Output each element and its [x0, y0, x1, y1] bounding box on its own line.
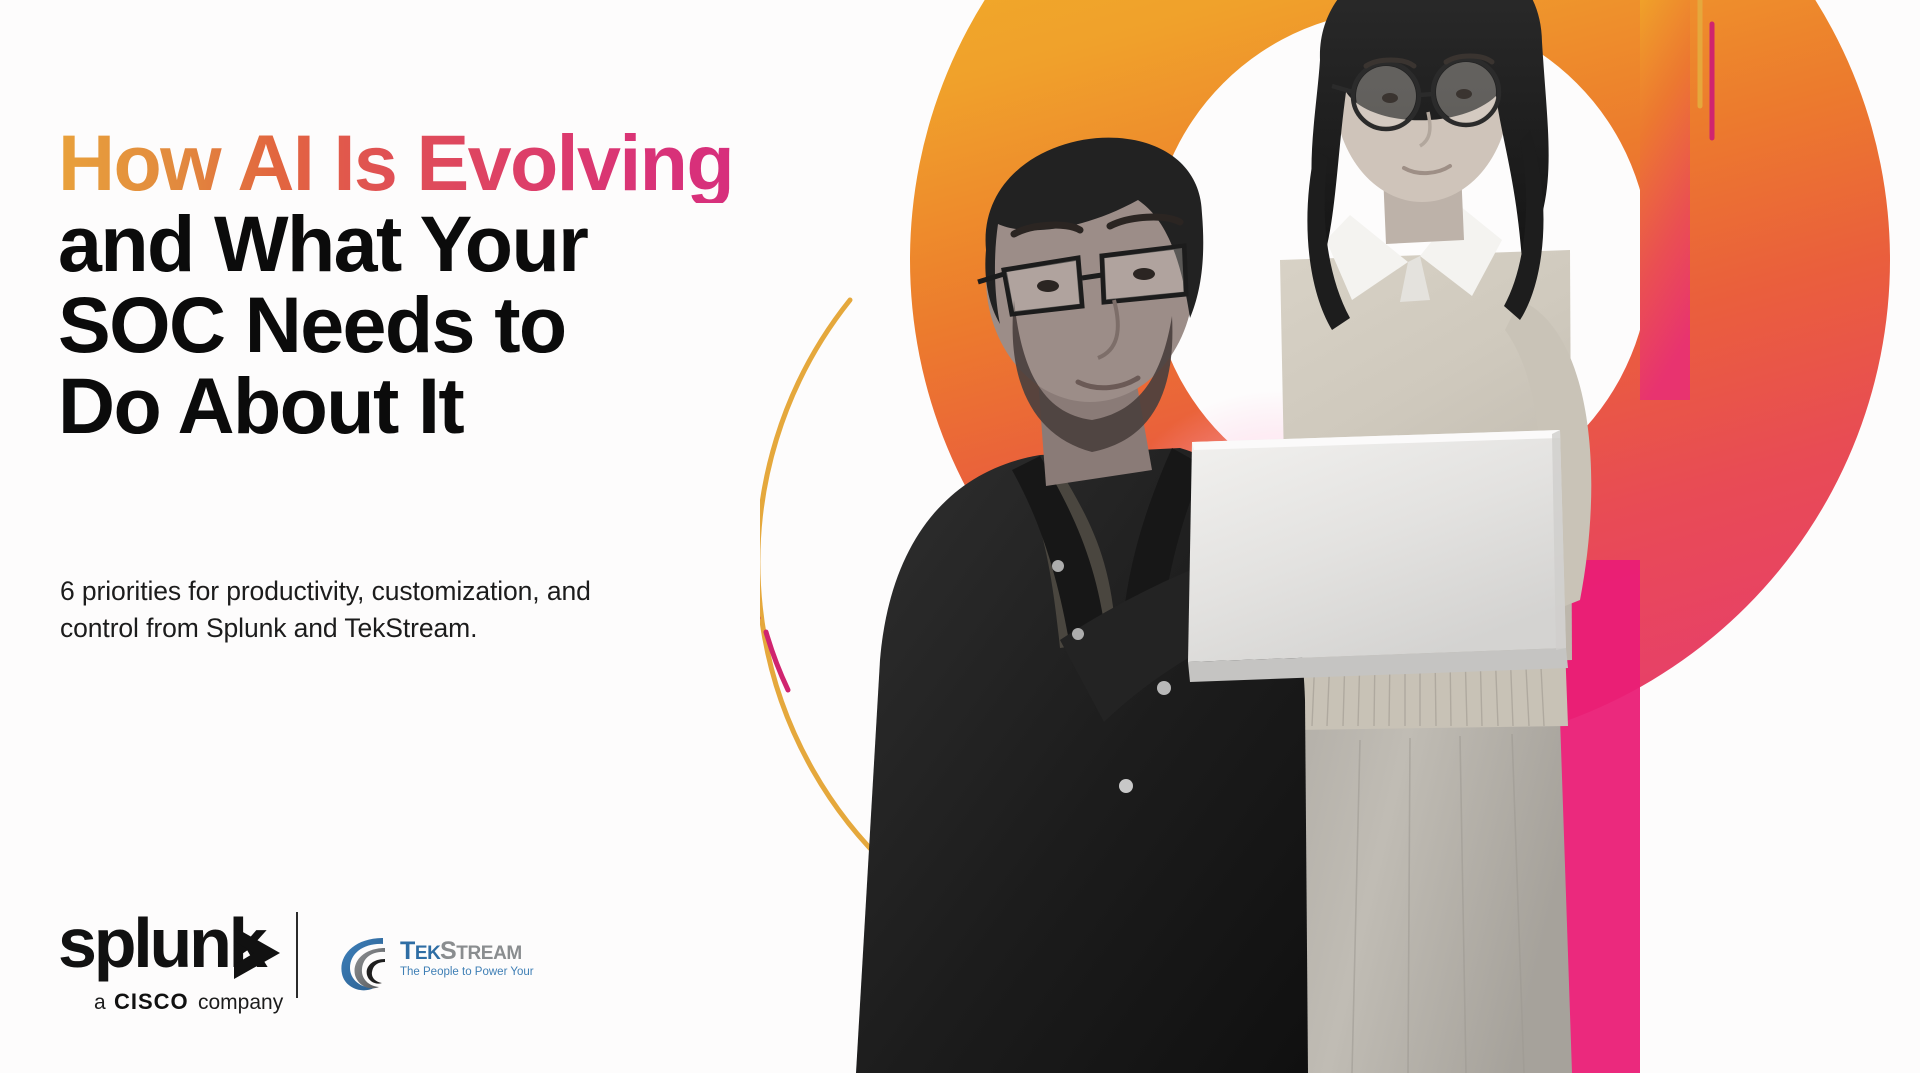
laptop — [1188, 430, 1568, 682]
tekstream-name-part1: TEK — [400, 937, 441, 965]
headline-line-2: and What Your — [58, 203, 758, 284]
headline-line-4: Do About It — [58, 365, 758, 446]
subtitle: 6 priorities for productivity, customiza… — [60, 573, 620, 647]
tekstream-logo: TEK STREAM The People to Power Your Succ… — [336, 926, 526, 990]
splunk-logo: splunk a CISCO company — [58, 903, 258, 1013]
page-title: How AI Is Evolving and What Your SOC Nee… — [58, 122, 758, 446]
splunk-tagline-prefix: a — [94, 991, 106, 1014]
right-gradient-block — [1640, 0, 1690, 400]
cover-page: How AI Is Evolving and What Your SOC Nee… — [0, 0, 1920, 1073]
headline-line-3: SOC Needs to — [58, 284, 758, 365]
splunk-tagline-brand: CISCO — [114, 989, 189, 1014]
tekstream-name-part2: STREAM — [440, 937, 522, 965]
logo-divider — [296, 912, 298, 998]
cover-artwork — [760, 0, 1920, 1073]
logo-lockup: splunk a CISCO company — [58, 898, 526, 1018]
text-column: How AI Is Evolving and What Your SOC Nee… — [58, 0, 758, 1073]
tekstream-swirl-icon — [341, 938, 385, 990]
splunk-tagline-suffix: company — [198, 991, 284, 1014]
tekstream-tagline: The People to Power Your Success — [400, 966, 536, 978]
headline-line-1: How AI Is Evolving — [58, 122, 758, 203]
